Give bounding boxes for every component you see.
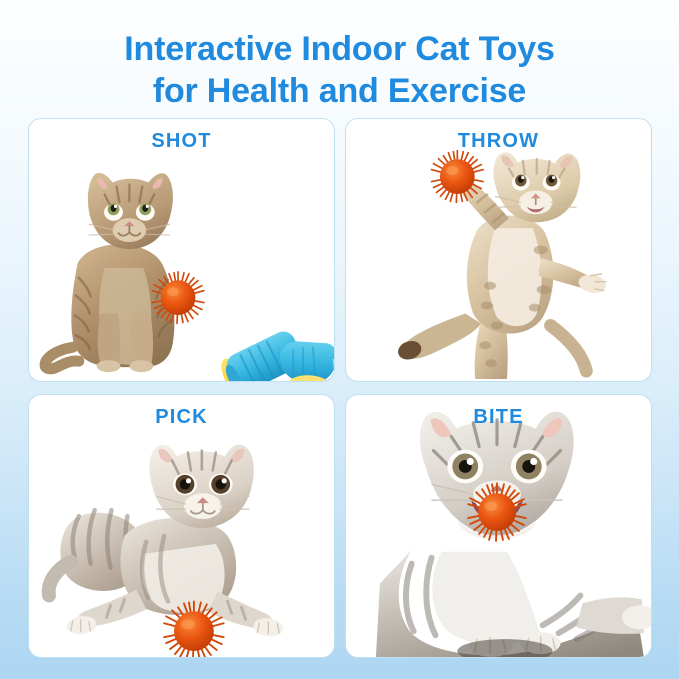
page-title: Interactive Indoor Cat Toys for Health a… bbox=[0, 28, 679, 112]
card-throw-illustration bbox=[346, 119, 651, 381]
card-pick-label: PICK bbox=[29, 406, 334, 429]
card-pick-illustration bbox=[29, 395, 334, 657]
card-shot: SHOT bbox=[28, 118, 335, 382]
card-bite-illustration bbox=[346, 395, 651, 657]
card-throw: THROW bbox=[345, 118, 652, 382]
toy-launcher-icon bbox=[217, 328, 334, 381]
cat-sitting-icon bbox=[45, 173, 174, 372]
page-title-line-2: for Health and Exercise bbox=[0, 70, 679, 112]
card-throw-label: THROW bbox=[346, 130, 651, 153]
card-shot-label: SHOT bbox=[29, 130, 334, 153]
page-title-line-1: Interactive Indoor Cat Toys bbox=[0, 28, 679, 70]
cat-jumping-icon bbox=[396, 152, 608, 379]
feature-card-grid: SHOT bbox=[28, 118, 652, 658]
card-shot-illustration bbox=[29, 119, 334, 381]
card-bite: BITE bbox=[345, 394, 652, 658]
card-bite-label: BITE bbox=[346, 406, 651, 429]
cat-crouching-icon bbox=[49, 445, 285, 639]
card-pick: PICK bbox=[28, 394, 335, 658]
